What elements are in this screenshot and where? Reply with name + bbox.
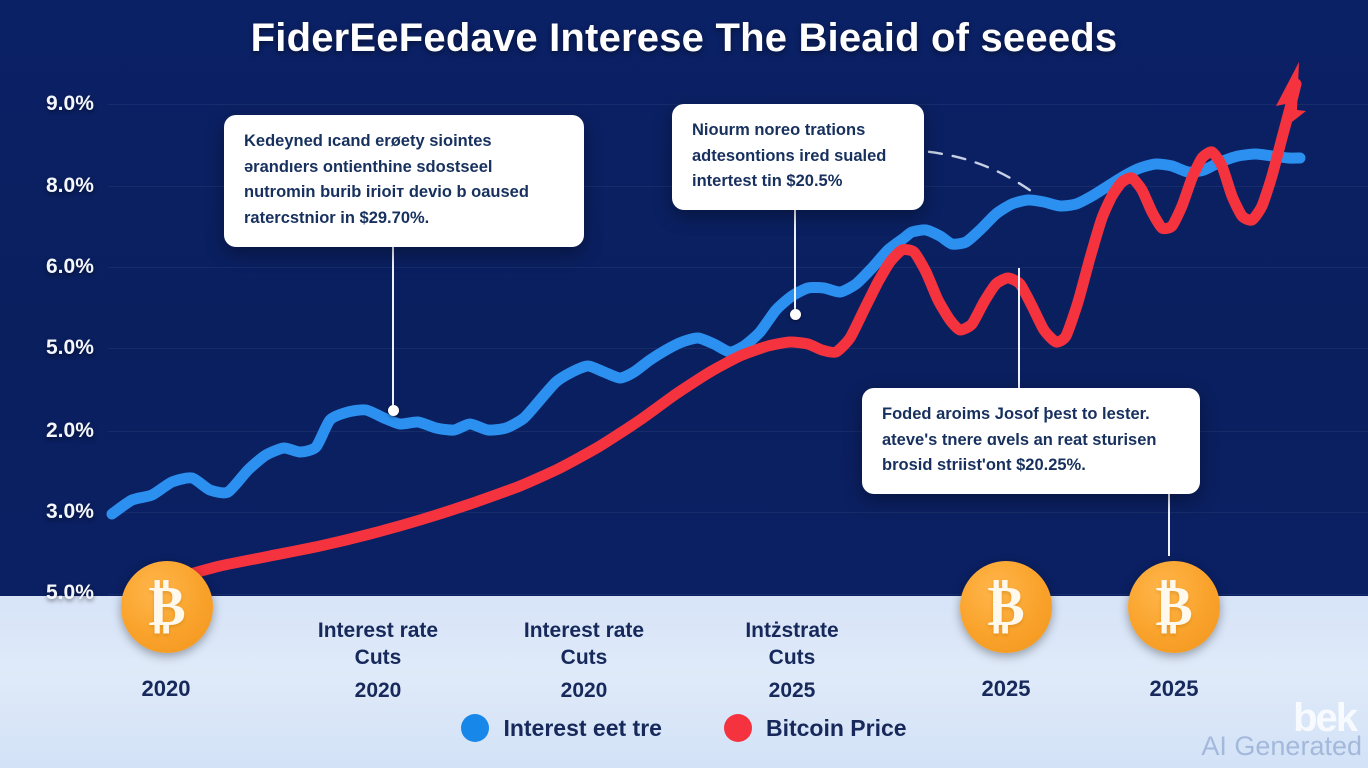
legend-swatch-bitcoin-icon bbox=[724, 714, 752, 742]
connector-annotation-1-dot bbox=[388, 405, 399, 416]
annotation-2-line-2: adtesontions ired sualed bbox=[692, 144, 906, 170]
bitcoin-coin-2: ₿ bbox=[960, 561, 1052, 653]
x-axis-group-2-line2: Cuts bbox=[712, 645, 872, 672]
legend-label-bitcoin: Bitcoin Price bbox=[766, 715, 907, 742]
legend-label-interest: Interest eet tre bbox=[503, 715, 662, 742]
x-axis-year-1: 2025 bbox=[946, 676, 1066, 702]
bitcoin-symbol-icon: ₿ bbox=[1128, 561, 1220, 653]
dashed-guide-arc bbox=[905, 150, 1038, 196]
chart-legend: Interest eet tre Bitcoin Price bbox=[0, 714, 1368, 742]
legend-item-interest: Interest eet tre bbox=[461, 714, 662, 742]
x-axis-group-0-year: 2020 bbox=[298, 678, 458, 705]
connector-annotation-2 bbox=[794, 196, 796, 314]
connector-annotation-1 bbox=[392, 247, 394, 410]
x-axis-group-0-line2: Cuts bbox=[298, 645, 458, 672]
x-axis-group-0: Interest rateCuts2020 bbox=[298, 618, 458, 705]
annotation-3-line-3: brosid striist'ont $20.25%. bbox=[882, 453, 1182, 479]
x-axis-group-2-line1: Intżstrate bbox=[712, 618, 872, 645]
connector-annotation-2-dot bbox=[790, 309, 801, 320]
legend-item-bitcoin: Bitcoin Price bbox=[724, 714, 907, 742]
annotation-1-line-2: ərandıers ontienthine sdostseel bbox=[244, 155, 566, 181]
x-axis-group-0-line1: Interest rate bbox=[298, 618, 458, 645]
legend-swatch-interest-icon bbox=[461, 714, 489, 742]
annotation-3-line-2: ateve's tnere ɑvels an reat sturisen bbox=[882, 428, 1182, 454]
annotation-2-line-1: Niourm noreo trations bbox=[692, 118, 906, 144]
x-axis-group-1-line2: Cuts bbox=[504, 645, 664, 672]
x-axis-group-1-line1: Interest rate bbox=[504, 618, 664, 645]
watermark-label: AI Generated bbox=[1201, 731, 1362, 762]
watermark: bek AI Generated bbox=[1201, 699, 1362, 762]
bitcoin-symbol-icon: ₿ bbox=[960, 561, 1052, 653]
x-axis-group-1-year: 2020 bbox=[504, 678, 664, 705]
annotation-1-line-1: Kedeyned ıcand erøety siointes bbox=[244, 129, 566, 155]
connector-annotation-3-left bbox=[1018, 268, 1020, 388]
annotation-1-line-3: nutromin burib irioiт devio b oaused bbox=[244, 180, 566, 206]
annotation-callout-2: Niourm noreo trations adtesontions ired … bbox=[672, 104, 924, 210]
annotation-callout-3: Foded aroims Josof þest to lester. ateve… bbox=[862, 388, 1200, 494]
bitcoin-symbol-icon: ₿ bbox=[121, 561, 213, 653]
chart-canvas: FiderEeFedave Interese The Bieaid of see… bbox=[0, 0, 1368, 768]
annotation-1-line-4: ratercstnior in $29.70%. bbox=[244, 206, 566, 232]
connector-annotation-3-right bbox=[1168, 486, 1170, 556]
x-axis-year-0: 2020 bbox=[106, 676, 226, 702]
bitcoin-coin-3: ₿ bbox=[1128, 561, 1220, 653]
annotation-2-line-3: intertest tin $20.5% bbox=[692, 169, 906, 195]
x-axis-group-2: IntżstrateCuts2025 bbox=[712, 618, 872, 705]
x-axis-group-2-year: 2025 bbox=[712, 678, 872, 705]
bitcoin-arrow-head bbox=[1276, 62, 1306, 129]
annotation-3-line-1: Foded aroims Josof þest to lester. bbox=[882, 402, 1182, 428]
x-axis-group-1: Interest rateCuts2020 bbox=[504, 618, 664, 705]
annotation-callout-1: Kedeyned ıcand erøety siointes ərandıers… bbox=[224, 115, 584, 247]
bitcoin-coin-1: ₿ bbox=[121, 561, 213, 653]
